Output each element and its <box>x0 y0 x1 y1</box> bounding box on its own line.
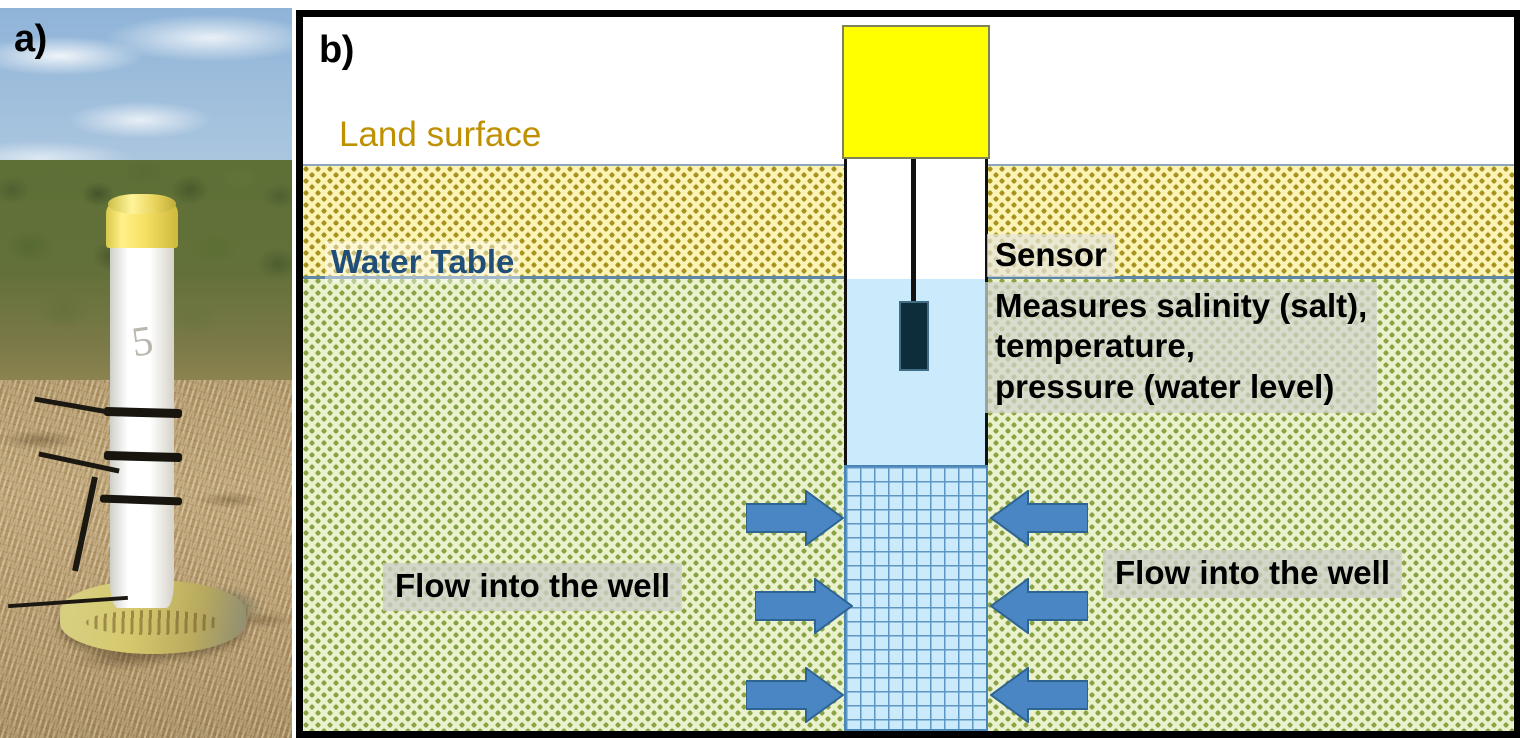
well-screen-interval <box>844 465 988 731</box>
panel-a-label: a) <box>14 18 47 61</box>
sensor-label: Sensor <box>987 234 1115 277</box>
figure-container: 5 a) <box>0 0 1520 738</box>
flow-arrow-right-pointing <box>746 667 844 723</box>
photo-pipe-marking: 5 <box>129 317 156 367</box>
panel-b-label: b) <box>319 29 354 72</box>
well-casing <box>844 159 988 279</box>
flow-arrow-left-pointing <box>990 490 1088 546</box>
panel-b-diagram: Land surface Water Table Sensor Measures… <box>296 10 1520 738</box>
flow-into-well-label-right: Flow into the well <box>1103 550 1402 598</box>
flow-arrow-right-pointing <box>755 578 853 634</box>
flow-arrow-left-pointing <box>990 667 1088 723</box>
diagram-canvas: Land surface Water Table Sensor Measures… <box>303 17 1514 731</box>
flow-arrow-right-pointing <box>746 490 844 546</box>
sensor-probe <box>899 301 929 371</box>
water-table-label: Water Table <box>325 241 520 283</box>
flow-arrow-left-pointing <box>990 578 1088 634</box>
photo-yellow-well-cap <box>106 204 178 248</box>
sensor-measures-description: Measures salinity (salt), temperature, p… <box>985 282 1377 413</box>
panel-a-photograph: 5 a) <box>0 8 292 738</box>
flow-into-well-label-left: Flow into the well <box>383 563 682 611</box>
photo-pvc-riser-pipe: 5 <box>110 236 174 608</box>
sensor-cable <box>911 159 916 307</box>
land-surface-label: Land surface <box>339 115 541 155</box>
well-cap <box>842 25 990 159</box>
